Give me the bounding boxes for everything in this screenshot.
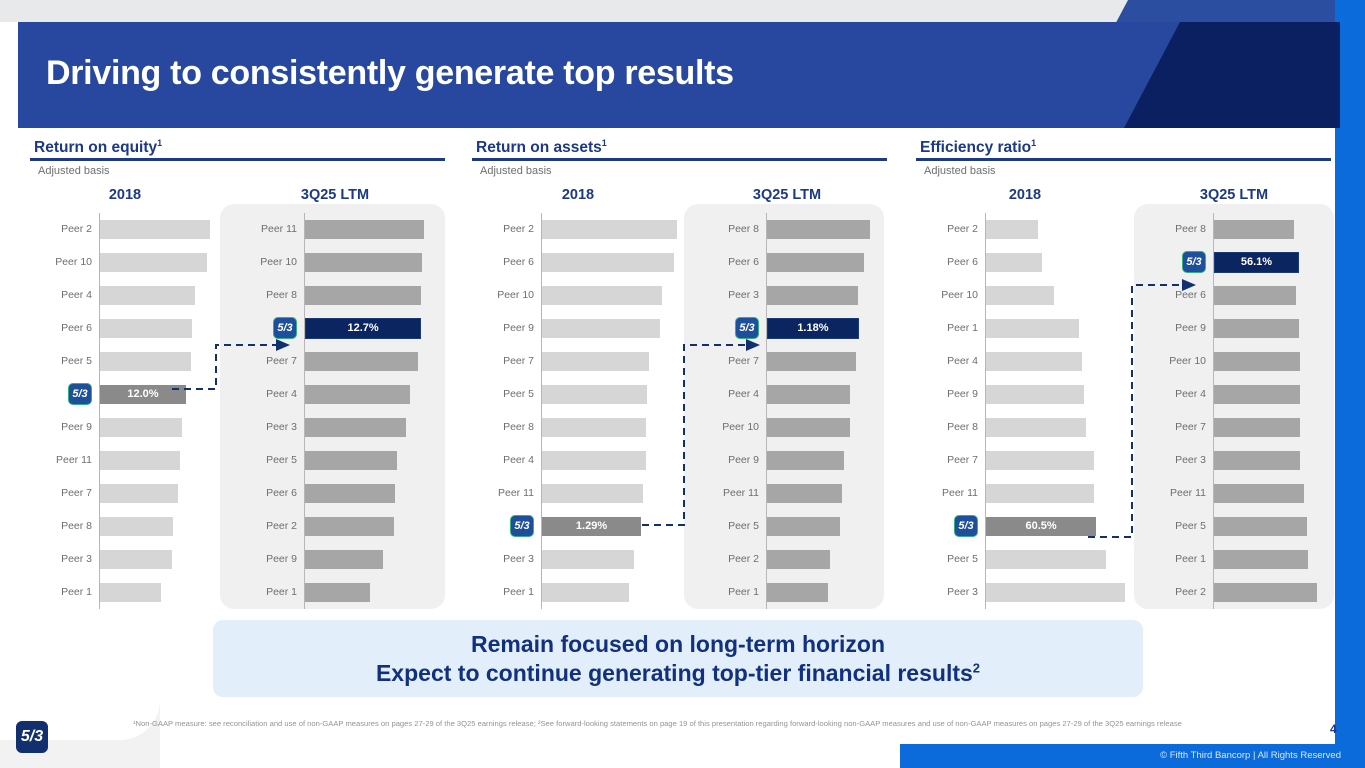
bar xyxy=(767,418,850,437)
chart-roa-3q25: 3Q25 LTM Peer 8Peer 6Peer 35/31.18%Peer … xyxy=(697,187,877,609)
bar xyxy=(767,220,870,239)
bar-row-label: Peer 7 xyxy=(916,454,985,466)
bar-track xyxy=(304,411,435,444)
bar-track xyxy=(985,477,1134,510)
fifth-third-logo-icon: 5/3 xyxy=(235,317,304,339)
bar xyxy=(1214,220,1294,239)
bar xyxy=(1214,550,1308,569)
bar-track xyxy=(985,345,1134,378)
fifth-third-logo-icon: 5/3 xyxy=(30,383,99,405)
fifth-third-logo-icon: 5/3 xyxy=(16,721,48,753)
section-title-text: Return on assets xyxy=(476,139,602,156)
footnote-text: ¹Non-GAAP measure: see reconciliation an… xyxy=(133,718,1298,730)
bar-row-label: Peer 1 xyxy=(916,322,985,334)
section-underline xyxy=(916,158,1331,161)
bar-row: Peer 1 xyxy=(235,576,435,609)
bar-row-label: Peer 6 xyxy=(472,256,541,268)
bar xyxy=(305,517,394,536)
bar xyxy=(100,220,210,239)
bar-track xyxy=(304,576,435,609)
bar-row: Peer 11 xyxy=(30,444,220,477)
bar xyxy=(986,550,1106,569)
bar-track xyxy=(766,510,877,543)
callout-line-2-text: Expect to continue generating top-tier f… xyxy=(376,660,973,686)
bar-row: Peer 8 xyxy=(235,279,435,312)
bar-row: Peer 4 xyxy=(472,444,684,477)
bar-track: 1.18% xyxy=(766,312,877,345)
bar-row: Peer 7 xyxy=(30,477,220,510)
bar-row: 5/312.7% xyxy=(235,312,435,345)
bar-row: Peer 7 xyxy=(1144,411,1324,444)
bar-row: Peer 8 xyxy=(30,510,220,543)
section-title: Efficiency ratio1 xyxy=(920,138,1331,157)
bar-track xyxy=(985,411,1134,444)
bar-row-label: Peer 5 xyxy=(1144,520,1213,532)
bar xyxy=(767,517,840,536)
bar-track xyxy=(99,411,220,444)
bar xyxy=(767,583,828,602)
bar xyxy=(100,484,178,503)
section-underline xyxy=(472,158,887,161)
bar-row-label: Peer 7 xyxy=(697,355,766,367)
bar-row-label: Peer 2 xyxy=(472,223,541,235)
section-charts: 2018 Peer 2Peer 6Peer 10Peer 9Peer 7Peer… xyxy=(472,179,887,609)
bar-row: Peer 11 xyxy=(697,477,877,510)
bar-track xyxy=(766,543,877,576)
bar-track xyxy=(541,312,684,345)
bar-row-label: Peer 2 xyxy=(30,223,99,235)
bar-track xyxy=(1213,444,1324,477)
bar xyxy=(986,484,1094,503)
bar xyxy=(100,352,191,371)
bar-row: Peer 10 xyxy=(30,246,220,279)
bar xyxy=(100,319,192,338)
bar-track xyxy=(985,279,1134,312)
fifth-third-logo-icon: 5/3 xyxy=(916,515,985,537)
bar-row-label: Peer 11 xyxy=(1144,487,1213,499)
chart-header: 3Q25 LTM xyxy=(1144,187,1324,205)
bar xyxy=(100,583,161,602)
bar-track xyxy=(1213,477,1324,510)
bar xyxy=(542,319,660,338)
bar xyxy=(1214,286,1296,305)
marker-badge: 5/3 xyxy=(273,317,297,339)
bar-track xyxy=(985,246,1134,279)
bar-row: Peer 10 xyxy=(235,246,435,279)
bar-row-label: Peer 9 xyxy=(472,322,541,334)
bar xyxy=(1214,319,1299,338)
bar-track xyxy=(304,543,435,576)
logo-text: 5/3 xyxy=(17,722,47,752)
bar-rows: Peer 8Peer 6Peer 35/31.18%Peer 7Peer 4Pe… xyxy=(697,213,877,609)
bar xyxy=(305,484,395,503)
chart-header: 3Q25 LTM xyxy=(697,187,877,205)
bar-row-label: Peer 1 xyxy=(235,586,304,598)
bar-row-label: Peer 8 xyxy=(1144,223,1213,235)
bar-row-label: Peer 8 xyxy=(697,223,766,235)
chart-roe-2018: 2018 Peer 2Peer 10Peer 4Peer 6Peer 55/31… xyxy=(30,187,220,609)
bar xyxy=(542,583,629,602)
chart-eff-2018: 2018 Peer 2Peer 6Peer 10Peer 1Peer 4Peer… xyxy=(916,187,1134,609)
bar-row: Peer 4 xyxy=(916,345,1134,378)
bar-row-label: Peer 6 xyxy=(697,256,766,268)
bar-row: Peer 1 xyxy=(30,576,220,609)
bar-row: Peer 7 xyxy=(235,345,435,378)
bar xyxy=(767,550,830,569)
bar-row: Peer 11 xyxy=(472,477,684,510)
bar-row-label: Peer 9 xyxy=(1144,322,1213,334)
bar-row: Peer 10 xyxy=(472,279,684,312)
bar-track xyxy=(985,213,1134,246)
bar-row: Peer 5 xyxy=(235,444,435,477)
bar xyxy=(542,220,677,239)
bar-row-label: Peer 3 xyxy=(472,553,541,565)
bar-row-label: Peer 9 xyxy=(916,388,985,400)
bar xyxy=(986,451,1094,470)
bar xyxy=(100,517,173,536)
bar-row-label: Peer 7 xyxy=(235,355,304,367)
bar-track xyxy=(99,543,220,576)
bar-row: 5/312.0% xyxy=(30,378,220,411)
bar-row-label: Peer 11 xyxy=(235,223,304,235)
bar-row: 5/356.1% xyxy=(1144,246,1324,279)
bar-row: Peer 5 xyxy=(1144,510,1324,543)
marker-badge: 5/3 xyxy=(1182,251,1206,273)
bar-track xyxy=(99,576,220,609)
bar xyxy=(1214,451,1300,470)
bar-row-label: Peer 4 xyxy=(30,289,99,301)
bar xyxy=(542,418,646,437)
callout-box: Remain focused on long-term horizon Expe… xyxy=(213,620,1143,697)
bar-track xyxy=(304,213,435,246)
bar xyxy=(986,286,1054,305)
bar-row-label: Peer 11 xyxy=(30,454,99,466)
bar-row: Peer 8 xyxy=(697,213,877,246)
bar-row-label: Peer 9 xyxy=(697,454,766,466)
bar-track: 60.5% xyxy=(985,510,1134,543)
bar-row: Peer 2 xyxy=(235,510,435,543)
bar xyxy=(305,418,406,437)
bar-row: Peer 2 xyxy=(472,213,684,246)
bar-track xyxy=(541,543,684,576)
bar-row: Peer 9 xyxy=(30,411,220,444)
bar-row: Peer 11 xyxy=(235,213,435,246)
bar-track xyxy=(1213,345,1324,378)
chart-header: 2018 xyxy=(916,187,1134,205)
bar-track xyxy=(985,576,1134,609)
bar-row: Peer 9 xyxy=(235,543,435,576)
bar xyxy=(1214,385,1300,404)
bar-row: Peer 2 xyxy=(30,213,220,246)
bar-row-label: Peer 3 xyxy=(235,421,304,433)
bar xyxy=(986,352,1082,371)
bar-track xyxy=(541,279,684,312)
bar-row: Peer 7 xyxy=(697,345,877,378)
bar xyxy=(1214,352,1300,371)
bar-track xyxy=(99,444,220,477)
bar-track xyxy=(766,279,877,312)
bar-row: Peer 5 xyxy=(30,345,220,378)
bar-row-label: Peer 1 xyxy=(30,586,99,598)
bar-row-label: Peer 9 xyxy=(235,553,304,565)
bar-row: Peer 11 xyxy=(916,477,1134,510)
bar-row-label: Peer 4 xyxy=(235,388,304,400)
bar-row-label: Peer 3 xyxy=(916,586,985,598)
bar-row: Peer 1 xyxy=(472,576,684,609)
bar xyxy=(1214,583,1317,602)
bar xyxy=(100,550,172,569)
footnote-marker: 1 xyxy=(602,138,607,148)
chart-header: 2018 xyxy=(30,187,220,205)
bar-rows: Peer 11Peer 10Peer 85/312.7%Peer 7Peer 4… xyxy=(235,213,435,609)
bar xyxy=(305,352,418,371)
bar-track xyxy=(99,279,220,312)
bar-row-label: Peer 6 xyxy=(916,256,985,268)
bar-track xyxy=(541,246,684,279)
bar xyxy=(986,583,1125,602)
bar xyxy=(542,484,643,503)
slide: Driving to consistently generate top res… xyxy=(0,0,1365,768)
bar-row-label: Peer 8 xyxy=(916,421,985,433)
bar-row: Peer 5 xyxy=(916,543,1134,576)
section-title: Return on assets1 xyxy=(476,138,887,157)
bar xyxy=(542,550,634,569)
bar-row: Peer 10 xyxy=(697,411,877,444)
bar xyxy=(305,286,421,305)
bar-row: Peer 8 xyxy=(916,411,1134,444)
bar-row: Peer 6 xyxy=(697,246,877,279)
bar-track xyxy=(1213,279,1324,312)
bar-row: Peer 1 xyxy=(697,576,877,609)
bar-track: 1.29% xyxy=(541,510,684,543)
bar-track xyxy=(985,378,1134,411)
bar-row: Peer 2 xyxy=(697,543,877,576)
bar-rows: Peer 85/356.1%Peer 6Peer 9Peer 10Peer 4P… xyxy=(1144,213,1324,609)
section-charts: 2018 Peer 2Peer 6Peer 10Peer 1Peer 4Peer… xyxy=(916,179,1331,609)
bar-highlighted: 1.29% xyxy=(542,517,641,536)
bar-track xyxy=(99,312,220,345)
bar xyxy=(767,286,858,305)
bar xyxy=(305,451,397,470)
bar-track xyxy=(541,444,684,477)
bar-track xyxy=(766,477,877,510)
section-efficiency-ratio: Efficiency ratio1 Adjusted basis 2018 Pe… xyxy=(916,138,1331,609)
bar-row: Peer 10 xyxy=(916,279,1134,312)
bar-row-label: Peer 1 xyxy=(697,586,766,598)
bar-row: Peer 9 xyxy=(472,312,684,345)
bar-row: Peer 2 xyxy=(916,213,1134,246)
bar-track xyxy=(99,213,220,246)
bar xyxy=(986,385,1084,404)
bar xyxy=(305,220,424,239)
bar-rows: Peer 2Peer 6Peer 10Peer 1Peer 4Peer 9Pee… xyxy=(916,213,1134,609)
bar-track xyxy=(766,345,877,378)
bar-row-label: Peer 10 xyxy=(916,289,985,301)
bar-row-label: Peer 10 xyxy=(235,256,304,268)
bar-track xyxy=(985,543,1134,576)
section-underline xyxy=(30,158,445,161)
bar-row-label: Peer 3 xyxy=(30,553,99,565)
fifth-third-logo-icon: 5/3 xyxy=(472,515,541,537)
chart-header: 3Q25 LTM xyxy=(235,187,435,205)
bar xyxy=(1214,418,1300,437)
bar-track xyxy=(766,576,877,609)
callout-line-2: Expect to continue generating top-tier f… xyxy=(376,659,980,687)
bar xyxy=(305,550,383,569)
bar-row-label: Peer 7 xyxy=(30,487,99,499)
bar-row-label: Peer 3 xyxy=(1144,454,1213,466)
bar-row: Peer 9 xyxy=(697,444,877,477)
bar-track xyxy=(99,510,220,543)
bar-track xyxy=(1213,378,1324,411)
callout-line-1: Remain focused on long-term horizon xyxy=(471,630,885,658)
bar-row-label: Peer 6 xyxy=(235,487,304,499)
bar-row: Peer 7 xyxy=(916,444,1134,477)
bar-row: Peer 5 xyxy=(472,378,684,411)
bar-row: Peer 3 xyxy=(235,411,435,444)
bar-track: 56.1% xyxy=(1213,246,1324,279)
bar-row-label: Peer 2 xyxy=(916,223,985,235)
chart-roe-3q25: 3Q25 LTM Peer 11Peer 10Peer 85/312.7%Pee… xyxy=(235,187,435,609)
bar xyxy=(542,385,647,404)
bar xyxy=(542,451,646,470)
bar-row-label: Peer 8 xyxy=(235,289,304,301)
fifth-third-logo-icon: 5/3 xyxy=(697,317,766,339)
bar-row: Peer 6 xyxy=(916,246,1134,279)
bar-track xyxy=(1213,576,1324,609)
footnote-marker: 1 xyxy=(157,138,162,148)
bar xyxy=(305,385,410,404)
bar-row-label: Peer 6 xyxy=(30,322,99,334)
bar-row: 5/360.5% xyxy=(916,510,1134,543)
bar xyxy=(1214,517,1307,536)
bar-track xyxy=(304,246,435,279)
section-return-on-equity: Return on equity1 Adjusted basis 2018 Pe… xyxy=(30,138,445,609)
bar-row-label: Peer 3 xyxy=(697,289,766,301)
bar-row: Peer 2 xyxy=(1144,576,1324,609)
bar-track xyxy=(1213,213,1324,246)
bar-row: Peer 4 xyxy=(697,378,877,411)
bar-row: Peer 4 xyxy=(1144,378,1324,411)
bar-row-label: Peer 11 xyxy=(697,487,766,499)
bar xyxy=(305,583,370,602)
bar-row: Peer 3 xyxy=(916,576,1134,609)
bar-row-label: Peer 4 xyxy=(472,454,541,466)
section-subtitle: Adjusted basis xyxy=(480,165,887,177)
bar-track xyxy=(541,411,684,444)
copyright-text: © Fifth Third Bancorp | All Rights Reser… xyxy=(1160,750,1341,761)
bar-row: Peer 3 xyxy=(697,279,877,312)
bar-track xyxy=(985,444,1134,477)
bar-row: Peer 6 xyxy=(1144,279,1324,312)
section-subtitle: Adjusted basis xyxy=(924,165,1331,177)
bar-row: Peer 11 xyxy=(1144,477,1324,510)
bar xyxy=(1214,484,1304,503)
bar-track xyxy=(541,213,684,246)
bar-row: Peer 8 xyxy=(472,411,684,444)
footnote-marker: 2 xyxy=(973,660,980,675)
bar-row: Peer 8 xyxy=(1144,213,1324,246)
bar-row-label: Peer 5 xyxy=(472,388,541,400)
bar-row-label: Peer 1 xyxy=(472,586,541,598)
bar-row-label: Peer 10 xyxy=(1144,355,1213,367)
bar-row: Peer 4 xyxy=(235,378,435,411)
bar xyxy=(767,253,864,272)
footnote-marker: 1 xyxy=(1031,138,1036,148)
bar-track xyxy=(99,477,220,510)
bar-track xyxy=(541,477,684,510)
bar xyxy=(305,253,422,272)
section-title-text: Efficiency ratio xyxy=(920,139,1031,156)
bar-highlighted: 12.7% xyxy=(305,318,421,339)
bar-row-label: Peer 4 xyxy=(697,388,766,400)
bar xyxy=(986,418,1086,437)
page-title: Driving to consistently generate top res… xyxy=(46,54,734,93)
marker-badge: 5/3 xyxy=(68,383,92,405)
bar-rows: Peer 2Peer 10Peer 4Peer 6Peer 55/312.0%P… xyxy=(30,213,220,609)
bar-track xyxy=(1213,312,1324,345)
bar-highlighted: 1.18% xyxy=(767,318,859,339)
bar-track xyxy=(541,378,684,411)
bar-track xyxy=(985,312,1134,345)
bar-track: 12.7% xyxy=(304,312,435,345)
bar-row: Peer 1 xyxy=(916,312,1134,345)
section-title: Return on equity1 xyxy=(34,138,445,157)
bar-row-label: Peer 2 xyxy=(235,520,304,532)
bar-track: 12.0% xyxy=(99,378,220,411)
fifth-third-logo-icon: 5/3 xyxy=(1144,251,1213,273)
bar-track xyxy=(304,444,435,477)
bar-track xyxy=(766,213,877,246)
bar-row: Peer 6 xyxy=(472,246,684,279)
section-charts: 2018 Peer 2Peer 10Peer 4Peer 6Peer 55/31… xyxy=(30,179,445,609)
bar-row: 5/31.18% xyxy=(697,312,877,345)
bar-row-label: Peer 10 xyxy=(697,421,766,433)
chart-roa-2018: 2018 Peer 2Peer 6Peer 10Peer 9Peer 7Peer… xyxy=(472,187,684,609)
bar xyxy=(100,418,182,437)
bar-row-label: Peer 11 xyxy=(916,487,985,499)
bar xyxy=(767,385,850,404)
bar-track xyxy=(1213,543,1324,576)
bar-row: Peer 9 xyxy=(916,378,1134,411)
bar xyxy=(767,484,842,503)
bar xyxy=(542,286,662,305)
bar-highlighted: 12.0% xyxy=(100,385,186,404)
bar-track xyxy=(99,246,220,279)
bar-row: Peer 1 xyxy=(1144,543,1324,576)
bar-track xyxy=(304,279,435,312)
marker-badge: 5/3 xyxy=(954,515,978,537)
marker-badge: 5/3 xyxy=(735,317,759,339)
bar-track xyxy=(766,444,877,477)
section-title-text: Return on equity xyxy=(34,139,157,156)
bar-row-label: Peer 5 xyxy=(916,553,985,565)
bar-track xyxy=(1213,411,1324,444)
bar-row-label: Peer 6 xyxy=(1144,289,1213,301)
bar-row: Peer 3 xyxy=(1144,444,1324,477)
bar-row-label: Peer 1 xyxy=(1144,553,1213,565)
bar-row-label: Peer 2 xyxy=(697,553,766,565)
bar-row-label: Peer 7 xyxy=(472,355,541,367)
bar-row-label: Peer 11 xyxy=(472,487,541,499)
bar-row-label: Peer 5 xyxy=(30,355,99,367)
page-number: 4 xyxy=(1330,722,1337,736)
bar-row: Peer 5 xyxy=(697,510,877,543)
chart-header: 2018 xyxy=(472,187,684,205)
bar-track xyxy=(766,378,877,411)
bar-row-label: Peer 10 xyxy=(30,256,99,268)
bar-track xyxy=(1213,510,1324,543)
